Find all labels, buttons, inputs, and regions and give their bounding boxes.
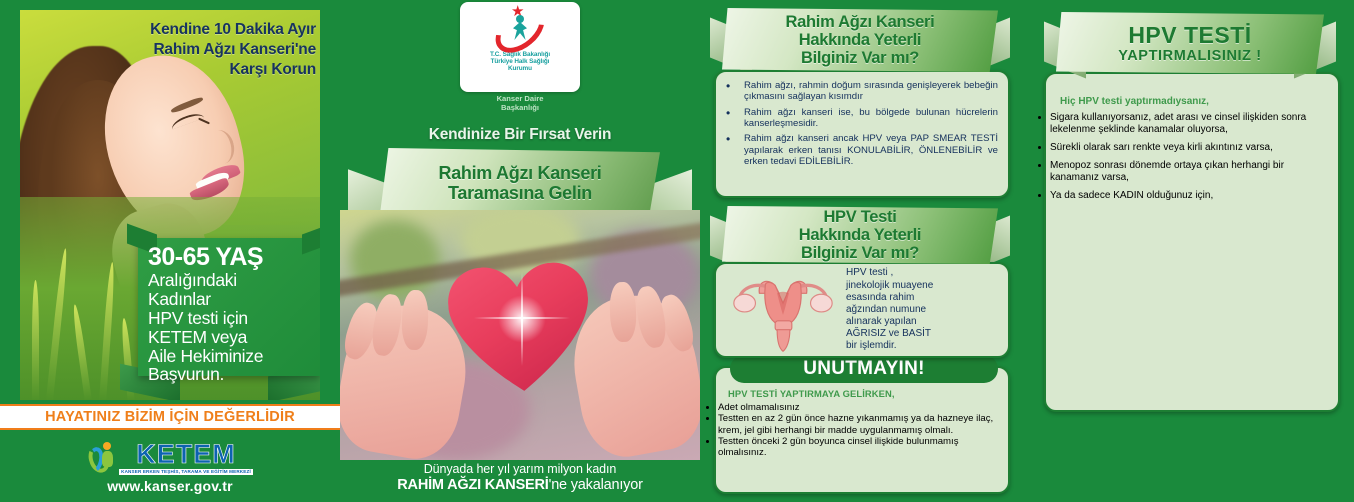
cta-header-line-2: YAPTIRMALISINIZ ! bbox=[1118, 49, 1261, 65]
ribbon-line-1: Rahim Ağzı Kanseri bbox=[439, 163, 602, 183]
ministry-line-2: Türkiye Halk Sağlığı bbox=[491, 58, 550, 65]
slogan-bar: HAYATINIZ BİZİM İÇİN DEĞERLİDİR bbox=[0, 404, 340, 430]
department-line-1: Kanser Daire bbox=[460, 94, 580, 103]
list-item: Rahim ağzı kanseri ise, bu bölgede bulun… bbox=[718, 107, 998, 130]
hpv-test-cta-header: HPV TESTİ YAPTIRMALISINIZ ! bbox=[1056, 12, 1324, 74]
list-item: Testten önceki 2 gün boyunca cinsel iliş… bbox=[718, 436, 998, 459]
caption-suffix: 'ne yakalanıyor bbox=[549, 477, 643, 493]
uterus-svg bbox=[724, 267, 842, 353]
callout-line-5: Aile Hekiminize bbox=[148, 347, 320, 366]
list-item: Menopoz sonrası dönemde ortaya çıkan her… bbox=[1050, 160, 1326, 184]
header-face: HPV Testi Hakkında Yeterli Bilginiz Var … bbox=[722, 206, 998, 264]
panel-call-to-action: HPV TESTİ YAPTIRMALISINIZ ! Hiç HPV test… bbox=[1030, 0, 1354, 502]
ketem-figure-body bbox=[102, 451, 113, 467]
ketem-name: KETEM bbox=[136, 441, 236, 468]
desc-line-2: jinekolojik muayene bbox=[846, 280, 933, 292]
list-item: Rahim ağzı kanseri ancak HPV veya PAP SM… bbox=[718, 133, 998, 167]
ribbon-line-2: Taramasına Gelin bbox=[448, 183, 592, 203]
callout-line-4: KETEM veya bbox=[148, 328, 320, 347]
brochure-page: Kendine 10 Dakika Ayır Rahim Ağzı Kanser… bbox=[0, 0, 1354, 502]
reminder-title: UNUTMAYIN! bbox=[803, 358, 925, 380]
cervical-cancer-header: Rahim Ağzı Kanseri Hakkında Yeterli Bilg… bbox=[722, 8, 998, 72]
teal-figure-head bbox=[516, 15, 524, 23]
desc-line-7: bir işlemdir. bbox=[846, 340, 933, 352]
list-item: Ya da sadece KADIN olduğunuz için, bbox=[1050, 190, 1326, 202]
panel-invitation: T.C. Sağlık Bakanlığı Türkiye Halk Sağlı… bbox=[340, 0, 700, 502]
caption-line-1: Dünyada her yıl yarım milyon kadın bbox=[340, 462, 700, 477]
headline-line-2: Rahim Ağzı Kanseri'ne bbox=[66, 40, 316, 60]
reminder-lead-panel3: HPV TESTİ YAPTIRMAYA GELİRKEN, bbox=[728, 388, 895, 399]
ketem-tagline: KANSER ERKEN TEŞHİS, TARAMA VE EĞİTİM ME… bbox=[119, 469, 253, 475]
panel1-footer: KETEM KANSER ERKEN TEŞHİS, TARAMA VE EĞİ… bbox=[0, 432, 340, 502]
header-line-1: HPV Testi bbox=[823, 208, 896, 226]
risk-factors-lead: Hiç HPV testi yaptırmadıysanız, bbox=[1060, 96, 1209, 107]
right-finger bbox=[609, 282, 637, 343]
cta-header-line-1: HPV TESTİ bbox=[1128, 23, 1251, 48]
ketem-figure-icon bbox=[87, 441, 117, 475]
header-line-3: Bilginiz Var mı? bbox=[801, 49, 919, 67]
age-range-label: 30-65 YAŞ bbox=[148, 244, 320, 271]
ketem-figure-head bbox=[103, 442, 111, 450]
ketem-wordmark: KETEM KANSER ERKEN TEŞHİS, TARAMA VE EĞİ… bbox=[119, 441, 253, 475]
caption-line-2: RAHİM AĞZI KANSERİ'ne yakalanıyor bbox=[340, 477, 700, 494]
ribbon-face: Rahim Ağzı Kanseri Taramasına Gelin bbox=[380, 148, 660, 218]
panel2-subtitle: Kendinize Bir Fırsat Verin bbox=[340, 126, 700, 144]
reminder-card-panel3: UNUTMAYIN! HPV TESTİ YAPTIRMAYA GELİRKEN… bbox=[714, 366, 1010, 494]
header-line-1: Rahim Ağzı Kanseri bbox=[786, 13, 935, 31]
age-callout-box: 30-65 YAŞ Aralığındaki Kadınlar HPV test… bbox=[138, 238, 320, 376]
risk-factors-bullet-list: Sigara kullanıyorsanız, adet arası ve ci… bbox=[1046, 112, 1338, 208]
desc-line-3: esasında rahim bbox=[846, 292, 933, 304]
panel1-headline: Kendine 10 Dakika Ayır Rahim Ağzı Kanser… bbox=[66, 20, 316, 79]
desc-line-4: ağzından numune bbox=[846, 304, 933, 316]
department-line-2: Başkanlığı bbox=[460, 103, 580, 112]
list-item: Sürekli olarak sarı renkte veya kirli ak… bbox=[1050, 142, 1326, 154]
reminder-pill-panel3: UNUTMAYIN! bbox=[730, 355, 998, 383]
grass-blade bbox=[32, 280, 39, 400]
hands-holding-heart-photo bbox=[340, 210, 700, 460]
sparkle-ray-vertical bbox=[521, 272, 523, 366]
cervical-cancer-bullet-list: Rahim ağzı, rahmin doğum sırasında geniş… bbox=[718, 80, 998, 167]
cervical-cancer-facts-card: Rahim ağzı, rahmin doğum sırasında geniş… bbox=[714, 70, 1010, 198]
desc-line-6: AĞRISIZ ve BASİT bbox=[846, 328, 933, 340]
desc-line-5: alınarak yapılan bbox=[846, 316, 933, 328]
panel-awareness-poster: Kendine 10 Dakika Ayır Rahim Ağzı Kanser… bbox=[0, 0, 340, 502]
ministry-line-1: T.C. Sağlık Bakanlığı bbox=[490, 51, 550, 58]
panel2-caption: Dünyada her yıl yarım milyon kadın RAHİM… bbox=[340, 462, 700, 494]
reminder-bullet-list-panel3: Adet olmamalısınız Testten en az 2 gün ö… bbox=[716, 402, 1008, 459]
panel-information: Rahim Ağzı Kanseri Hakkında Yeterli Bilg… bbox=[700, 0, 1030, 502]
callout-line-3: HPV testi için bbox=[148, 309, 320, 328]
ministry-line-3: Kurumu bbox=[508, 65, 532, 72]
callout-line-6: Başvurun. bbox=[148, 365, 320, 384]
hpv-test-header: HPV Testi Hakkında Yeterli Bilginiz Var … bbox=[722, 206, 998, 264]
header-line-3: Bilginiz Var mı? bbox=[801, 244, 919, 262]
panel1-photo-card: Kendine 10 Dakika Ayır Rahim Ağzı Kanser… bbox=[20, 10, 320, 400]
header-face: HPV TESTİ YAPTIRMALISINIZ ! bbox=[1056, 12, 1324, 74]
ministry-of-health-icon bbox=[489, 6, 551, 50]
hpv-test-description: HPV testi , jinekolojik muayene esasında… bbox=[842, 267, 933, 352]
headline-line-3: Karşı Korun bbox=[66, 60, 316, 80]
ketem-logo: KETEM KANSER ERKEN TEŞHİS, TARAMA VE EĞİ… bbox=[87, 441, 253, 475]
header-line-2: Hakkında Yeterli bbox=[799, 31, 921, 49]
hpv-test-explanation-card: HPV testi , jinekolojik muayene esasında… bbox=[714, 262, 1010, 358]
list-item: Rahim ağzı, rahmin doğum sırasında geniş… bbox=[718, 80, 998, 103]
desc-line-1: HPV testi , bbox=[846, 267, 933, 279]
ministry-logo-card: T.C. Sağlık Bakanlığı Türkiye Halk Sağlı… bbox=[460, 2, 580, 92]
callout-line-2: Kadınlar bbox=[148, 290, 320, 309]
slogan-text: HAYATINIZ BİZİM İÇİN DEĞERLİDİR bbox=[45, 409, 295, 425]
header-line-2: Hakkında Yeterli bbox=[799, 226, 921, 244]
department-label: Kanser Daire Başkanlığı bbox=[460, 94, 580, 113]
list-item: Adet olmamalısınız bbox=[718, 402, 998, 413]
header-face: Rahim Ağzı Kanseri Hakkında Yeterli Bilg… bbox=[722, 8, 998, 72]
uterus-anatomy-icon bbox=[724, 267, 842, 353]
website-url[interactable]: www.kanser.gov.tr bbox=[107, 478, 233, 494]
list-item: Testten en az 2 gün önce hazne yıkanmamı… bbox=[718, 413, 998, 436]
callout-line-1: Aralığındaki bbox=[148, 271, 320, 290]
caption-emphasis: RAHİM AĞZI KANSERİ bbox=[397, 477, 548, 493]
list-item: Sigara kullanıyorsanız, adet arası ve ci… bbox=[1050, 112, 1326, 136]
headline-line-1: Kendine 10 Dakika Ayır bbox=[66, 20, 316, 40]
risk-factors-card: Hiç HPV testi yaptırmadıysanız, Sigara k… bbox=[1044, 72, 1340, 412]
age-callout-text: 30-65 YAŞ Aralığındaki Kadınlar HPV test… bbox=[138, 238, 320, 384]
